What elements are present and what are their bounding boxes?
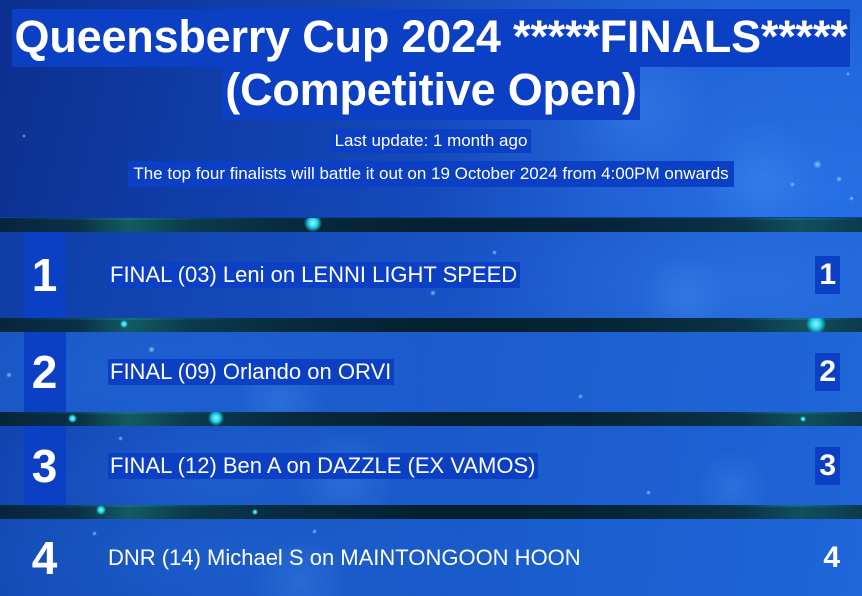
entry-cell: FINAL (12) Ben A on DAZZLE (EX VAMOS)	[108, 453, 776, 479]
last-update-text: Last update: 1 month ago	[331, 129, 532, 153]
rank-cell: 4	[0, 519, 108, 596]
entry-label: FINAL (03) Leni on LENNI LIGHT SPEED	[108, 262, 520, 288]
entry-cell: FINAL (09) Orlando on ORVI	[108, 359, 776, 385]
row-separator	[0, 412, 862, 426]
entry-cell: FINAL (03) Leni on LENNI LIGHT SPEED	[108, 262, 776, 288]
rank-cell: 3	[0, 426, 108, 505]
decorative-glint	[68, 414, 77, 423]
table-row[interactable]: 1 FINAL (03) Leni on LENNI LIGHT SPEED 1	[0, 232, 862, 318]
table-row[interactable]: 4 DNR (14) Michael S on MAINTONGOON HOON…	[0, 519, 862, 596]
event-title-line-1: Queensberry Cup 2024 *****FINALS*****	[12, 9, 851, 67]
event-title-line-2: (Competitive Open)	[222, 62, 639, 120]
decorative-glint	[800, 416, 806, 422]
score-value: 2	[815, 353, 840, 391]
entry-label: FINAL (12) Ben A on DAZZLE (EX VAMOS)	[108, 453, 538, 479]
rank-number: 3	[32, 443, 57, 489]
score-value: 4	[823, 541, 840, 574]
score-value: 3	[815, 447, 840, 485]
table-row[interactable]: 2 FINAL (09) Orlando on ORVI 2	[0, 332, 862, 412]
decorative-glint	[304, 218, 322, 232]
decorative-glint	[806, 318, 826, 332]
decorative-glint	[252, 509, 258, 515]
leaderboard-screen: Queensberry Cup 2024 *****FINALS***** (C…	[0, 0, 862, 596]
row-separator	[0, 218, 862, 232]
entry-label: FINAL (09) Orlando on ORVI	[108, 359, 394, 385]
entry-label: DNR (14) Michael S on MAINTONGOON HOON	[108, 545, 581, 570]
rank-number: 4	[32, 535, 57, 581]
rank-number: 2	[32, 349, 57, 395]
score-cell: 2	[776, 357, 862, 387]
score-cell: 1	[776, 260, 862, 290]
row-separator	[0, 318, 862, 332]
page-title: Queensberry Cup 2024 *****FINALS***** (C…	[0, 14, 862, 112]
rank-number: 1	[32, 252, 57, 298]
rank-cell: 1	[0, 232, 108, 318]
row-separator	[0, 505, 862, 519]
rank-cell: 2	[0, 332, 108, 412]
score-cell: 4	[776, 543, 862, 573]
score-value: 1	[815, 256, 840, 294]
event-header: Queensberry Cup 2024 *****FINALS***** (C…	[0, 0, 862, 217]
decorative-glint	[208, 412, 224, 426]
decorative-glint	[120, 320, 128, 328]
announcement-text: The top four finalists will battle it ou…	[128, 161, 733, 187]
entry-cell: DNR (14) Michael S on MAINTONGOON HOON	[108, 545, 776, 571]
table-row[interactable]: 3 FINAL (12) Ben A on DAZZLE (EX VAMOS) …	[0, 426, 862, 505]
score-cell: 3	[776, 451, 862, 481]
decorative-glint	[96, 505, 106, 515]
